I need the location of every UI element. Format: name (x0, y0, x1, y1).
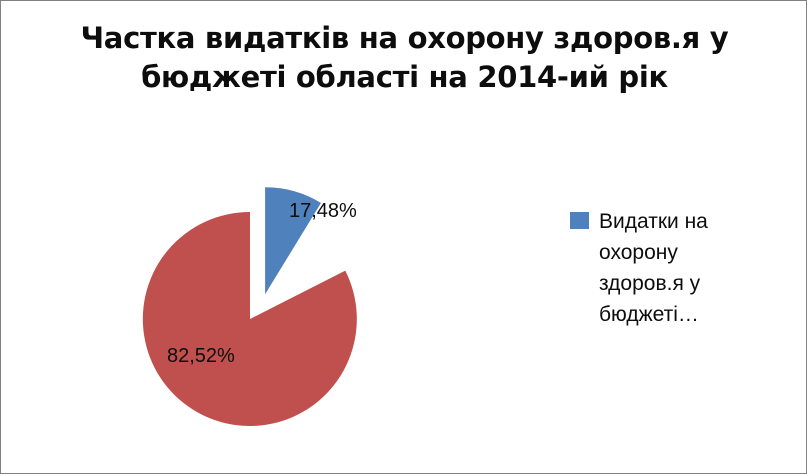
legend-color-swatch-icon (570, 212, 589, 229)
chart-legend: Видатки на охорону здоров.я у бюджеті… (570, 206, 800, 330)
data-label-health-expenditure: 17,48% (289, 200, 357, 223)
pie-plot-area: 17,48% 82,52% (1, 1, 561, 474)
legend-item-health-expenditure[interactable]: Видатки на охорону здоров.я у бюджеті… (570, 206, 749, 330)
pie-slice-other[interactable] (143, 212, 357, 426)
pie-chart-svg (1, 1, 561, 474)
legend-item-label: Видатки на охорону здоров.я у бюджеті… (599, 206, 749, 330)
data-label-other: 82,52% (167, 345, 235, 368)
chart-container: Частка видатків на охорону здоров.я у бю… (0, 0, 807, 474)
